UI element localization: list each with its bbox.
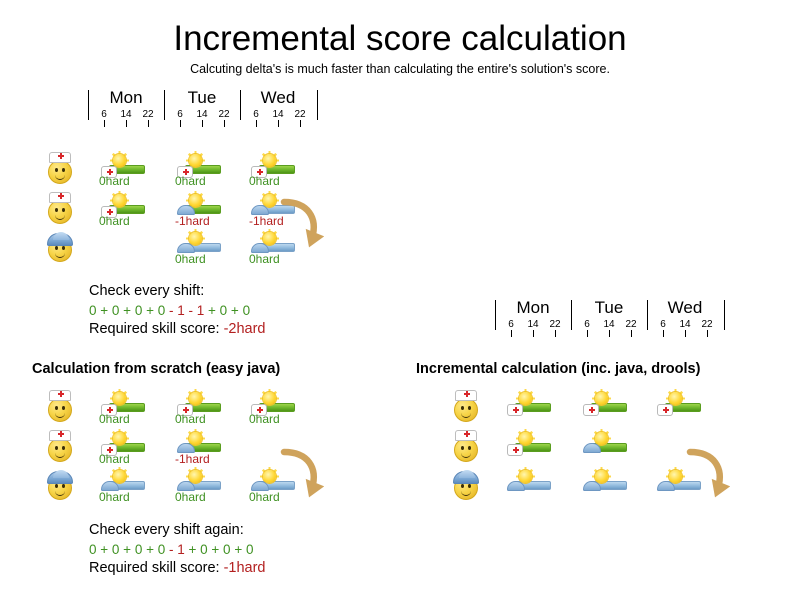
- formula-token: +: [97, 542, 112, 557]
- result-label: Required skill score:: [89, 560, 224, 576]
- timeline-tick: [180, 120, 181, 127]
- sun-icon: [189, 470, 202, 483]
- timeline-hour-label: 14: [268, 109, 288, 120]
- shift-assignment[interactable]: 0hard: [101, 392, 147, 426]
- sun-icon: [189, 154, 202, 167]
- hard-hat-icon: [657, 481, 675, 491]
- shift-score-label: 0hard: [249, 252, 309, 266]
- formula-token: -: [185, 303, 197, 318]
- shift-score-label: 0hard: [249, 174, 309, 188]
- sun-icon: [113, 432, 126, 445]
- sun-icon: [519, 470, 532, 483]
- shift-assignment[interactable]: 0hard: [101, 432, 147, 466]
- explanation-title: Check every shift again:: [89, 521, 266, 540]
- timeline-day-label: Tue: [571, 298, 647, 318]
- shift-score-label: 0hard: [99, 174, 159, 188]
- nurse-avatar-icon: [46, 390, 74, 424]
- shift-assignment[interactable]: [507, 432, 553, 466]
- hard-hat-icon: [583, 443, 601, 453]
- shift-assignment[interactable]: 0hard: [177, 392, 223, 426]
- schedule-grid-incremental: [452, 390, 752, 515]
- schedule-row: 0hard0hard: [46, 230, 336, 268]
- timeline-hours: 61422: [164, 109, 240, 121]
- explanation-top: Check every shift: 0 + 0 + 0 + 0 - 1 - 1…: [89, 282, 266, 339]
- timeline-hour-label: 6: [577, 319, 597, 330]
- schedule-row: 0hard0hard0hard: [46, 390, 346, 428]
- hard-hat-icon: [47, 471, 73, 484]
- timeline-hour-label: 6: [653, 319, 673, 330]
- shift-score-label: -1hard: [175, 452, 235, 466]
- sun-icon: [669, 392, 682, 405]
- shift-assignment[interactable]: -1hard: [177, 432, 223, 466]
- schedule-row: 0hard-1hard: [46, 430, 346, 468]
- timeline-hour-label: 14: [192, 109, 212, 120]
- shift-score-label: 0hard: [175, 490, 235, 504]
- timeline-hour-label: 6: [501, 319, 521, 330]
- nurse-cap-icon: [507, 444, 523, 456]
- timeline-hours: 61422: [88, 109, 164, 121]
- shift-assignment[interactable]: [583, 432, 629, 466]
- hard-hat-icon: [47, 233, 73, 246]
- shift-score-label: 0hard: [99, 490, 159, 504]
- timeline-tick: [278, 120, 279, 127]
- formula-token: +: [119, 542, 134, 557]
- sun-icon: [189, 432, 202, 445]
- timeline-tick: [202, 120, 203, 127]
- schedule-row: 0hard0hard0hard: [46, 152, 336, 190]
- shift-assignment[interactable]: 0hard: [101, 470, 147, 504]
- sun-icon: [595, 392, 608, 405]
- sun-icon: [595, 470, 608, 483]
- shift-score-label: -1hard: [175, 214, 235, 228]
- formula-token: -: [165, 303, 177, 318]
- timeline-header-top: Mon61422Tue61422Wed61422: [88, 90, 316, 132]
- nurse-avatar-icon: [46, 192, 74, 226]
- shift-assignment[interactable]: [657, 470, 703, 504]
- timeline-day-tue: Tue61422: [164, 90, 240, 120]
- helmet-avatar-icon: [452, 468, 480, 502]
- schedule-row: [452, 430, 752, 468]
- timeline-hour-label: 22: [138, 109, 158, 120]
- timeline-tick: [104, 120, 105, 127]
- shift-assignment[interactable]: 0hard: [251, 470, 297, 504]
- page-title: Incremental score calculation: [0, 20, 800, 59]
- sun-icon: [263, 194, 276, 207]
- timeline-day-wed: Wed61422: [240, 90, 316, 120]
- page-subtitle: Calcuting delta's is much faster than ca…: [0, 62, 800, 76]
- heading-incremental: Incremental calculation (inc. java, droo…: [416, 361, 700, 377]
- helmet-avatar-icon: [46, 230, 74, 264]
- formula-token: +: [142, 303, 157, 318]
- smiley-face-icon: [48, 438, 72, 462]
- shift-assignment[interactable]: 0hard: [101, 154, 147, 188]
- sun-icon: [263, 154, 276, 167]
- shift-assignment[interactable]: 0hard: [251, 392, 297, 426]
- hard-hat-icon: [453, 471, 479, 484]
- timeline-tick: [631, 330, 632, 337]
- formula-token: -: [165, 542, 177, 557]
- formula-token: +: [208, 542, 223, 557]
- timeline-hour-label: 6: [246, 109, 266, 120]
- timeline-tick: [224, 120, 225, 127]
- timeline-tick: [609, 330, 610, 337]
- shift-assignment[interactable]: 0hard: [177, 154, 223, 188]
- formula-token: 0: [246, 542, 254, 557]
- result-value: -2hard: [224, 321, 266, 337]
- timeline-tick: [707, 330, 708, 337]
- sun-icon: [519, 392, 532, 405]
- shift-assignment[interactable]: [507, 470, 553, 504]
- shift-assignment[interactable]: [583, 470, 629, 504]
- timeline-tick: [511, 330, 512, 337]
- timeline-day-mon: Mon61422: [495, 300, 571, 330]
- formula-token: +: [204, 303, 219, 318]
- schedule-grid-top: 0hard0hard0hard0hard-1hard-1hard0hard0ha…: [46, 152, 336, 277]
- explanation-result: Required skill score: -1hard: [89, 559, 266, 578]
- sun-icon: [189, 392, 202, 405]
- timeline-tick: [126, 120, 127, 127]
- formula-token: 0: [200, 542, 208, 557]
- schedule-grid-scratch: 0hard0hard0hard0hard-1hard0hard0hard0har…: [46, 390, 346, 515]
- formula-token: +: [97, 303, 112, 318]
- explanation-formula: 0 + 0 + 0 + 0 - 1 - 1 + 0 + 0: [89, 301, 266, 320]
- formula-token: 0: [223, 542, 231, 557]
- shift-assignment[interactable]: -1hard: [177, 194, 223, 228]
- timeline-hour-label: 6: [94, 109, 114, 120]
- nurse-avatar-icon: [46, 430, 74, 464]
- smiley-face-icon: [454, 398, 478, 422]
- smiley-face-icon: [48, 398, 72, 422]
- shift-score-label: 0hard: [99, 214, 159, 228]
- nurse-cap-icon: [49, 390, 71, 401]
- nurse-avatar-icon: [452, 390, 480, 424]
- sun-icon: [263, 232, 276, 245]
- smiley-face-icon: [48, 200, 72, 224]
- formula-token: 1: [177, 303, 185, 318]
- formula-token: 0: [243, 303, 251, 318]
- smiley-face-icon: [454, 438, 478, 462]
- hard-hat-icon: [583, 481, 601, 491]
- nurse-cap-icon: [583, 404, 599, 416]
- nurse-cap-icon: [49, 152, 71, 163]
- schedule-row: [452, 468, 752, 506]
- timeline-day-label: Mon: [88, 88, 164, 108]
- sun-icon: [669, 470, 682, 483]
- shift-assignment[interactable]: [657, 392, 703, 426]
- timeline-hour-label: 14: [675, 319, 695, 330]
- result-value: -1hard: [224, 560, 266, 576]
- timeline-tick: [256, 120, 257, 127]
- timeline-tick: [300, 120, 301, 127]
- timeline-hours: 61422: [647, 319, 723, 331]
- heading-scratch: Calculation from scratch (easy java): [32, 361, 280, 377]
- formula-token: +: [119, 303, 134, 318]
- timeline-tick: [533, 330, 534, 337]
- nurse-cap-icon: [49, 192, 71, 203]
- nurse-cap-icon: [455, 430, 477, 441]
- schedule-row: 0hard-1hard-1hard: [46, 192, 336, 230]
- timeline-tick: [587, 330, 588, 337]
- result-label: Required skill score:: [89, 321, 224, 337]
- shift-score-label: 0hard: [249, 412, 309, 426]
- timeline-hour-label: 14: [523, 319, 543, 330]
- timeline-day-label: Wed: [647, 298, 723, 318]
- timeline-day-label: Tue: [164, 88, 240, 108]
- nurse-cap-icon: [657, 404, 673, 416]
- shift-assignment[interactable]: 0hard: [251, 154, 297, 188]
- sun-icon: [189, 232, 202, 245]
- explanation-result: Required skill score: -2hard: [89, 320, 266, 339]
- timeline-day-tue: Tue61422: [571, 300, 647, 330]
- sun-icon: [113, 470, 126, 483]
- explanation-scratch: Check every shift again: 0 + 0 + 0 + 0 -…: [89, 521, 266, 578]
- formula-token: 1: [177, 542, 185, 557]
- shift-assignment[interactable]: 0hard: [101, 194, 147, 228]
- sun-icon: [189, 194, 202, 207]
- hard-hat-icon: [507, 481, 525, 491]
- formula-token: 0: [89, 542, 97, 557]
- schedule-row: [452, 390, 752, 428]
- nurse-cap-icon: [455, 390, 477, 401]
- shift-assignment[interactable]: [507, 392, 553, 426]
- shift-score-label: 0hard: [175, 412, 235, 426]
- helmet-avatar-icon: [46, 468, 74, 502]
- timeline-header-right: Mon61422Tue61422Wed61422: [495, 300, 723, 342]
- timeline-tick: [663, 330, 664, 337]
- formula-token: +: [231, 542, 246, 557]
- timeline-hour-label: 22: [214, 109, 234, 120]
- timeline-hour-label: 6: [170, 109, 190, 120]
- explanation-title: Check every shift:: [89, 282, 266, 301]
- timeline-tick: [555, 330, 556, 337]
- formula-token: +: [142, 542, 157, 557]
- sun-icon: [113, 154, 126, 167]
- timeline-hour-label: 22: [697, 319, 717, 330]
- nurse-avatar-icon: [452, 430, 480, 464]
- timeline-tick: [148, 120, 149, 127]
- timeline-hour-label: 14: [599, 319, 619, 330]
- nurse-avatar-icon: [46, 152, 74, 186]
- sun-icon: [595, 432, 608, 445]
- shift-score-label: 0hard: [175, 252, 235, 266]
- sun-icon: [263, 392, 276, 405]
- nurse-cap-icon: [49, 430, 71, 441]
- explanation-formula: 0 + 0 + 0 + 0 - 1 + 0 + 0 + 0: [89, 540, 266, 559]
- timeline-hour-label: 22: [621, 319, 641, 330]
- schedule-row: 0hard0hard0hard: [46, 468, 346, 506]
- formula-token: 0: [89, 303, 97, 318]
- timeline-hour-label: 14: [116, 109, 136, 120]
- sun-icon: [519, 432, 532, 445]
- timeline-hours: 61422: [240, 109, 316, 121]
- timeline-hour-label: 22: [545, 319, 565, 330]
- timeline-hours: 61422: [571, 319, 647, 331]
- shift-score-label: 0hard: [175, 174, 235, 188]
- formula-token: +: [227, 303, 242, 318]
- shift-assignment[interactable]: 0hard: [251, 232, 297, 266]
- shift-assignment[interactable]: [583, 392, 629, 426]
- shift-assignment[interactable]: 0hard: [177, 232, 223, 266]
- timeline-day-wed: Wed61422: [647, 300, 723, 330]
- timeline-tick: [685, 330, 686, 337]
- formula-token: +: [185, 542, 200, 557]
- timeline-day-mon: Mon61422: [88, 90, 164, 120]
- timeline-hour-label: 22: [290, 109, 310, 120]
- timeline-day-label: Mon: [495, 298, 571, 318]
- sun-icon: [113, 392, 126, 405]
- shift-score-label: 0hard: [99, 412, 159, 426]
- shift-score-label: 0hard: [249, 490, 309, 504]
- slide-canvas: Incremental score calculation Calcuting …: [0, 0, 800, 600]
- shift-score-label: 0hard: [99, 452, 159, 466]
- sun-icon: [113, 194, 126, 207]
- timeline-hours: 61422: [495, 319, 571, 331]
- nurse-cap-icon: [507, 404, 523, 416]
- shift-assignment[interactable]: 0hard: [177, 470, 223, 504]
- sun-icon: [263, 470, 276, 483]
- timeline-day-label: Wed: [240, 88, 316, 108]
- smiley-face-icon: [48, 160, 72, 184]
